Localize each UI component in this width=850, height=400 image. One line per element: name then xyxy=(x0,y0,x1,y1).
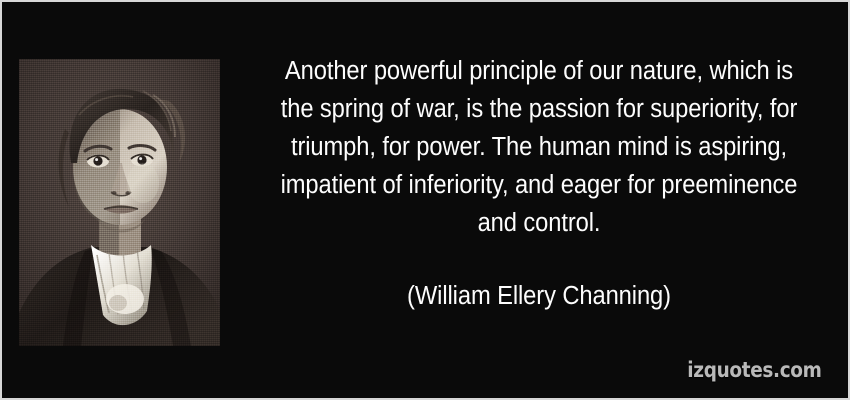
quote-text-column: Another powerful principle of our nature… xyxy=(234,52,844,313)
quote-attribution: (William Ellery Channing) xyxy=(255,242,822,313)
portrait-engraving-illustration xyxy=(19,59,220,346)
quote-body: Another powerful principle of our nature… xyxy=(255,52,822,242)
author-portrait-image xyxy=(19,59,220,346)
quote-card: Another powerful principle of our nature… xyxy=(0,0,850,400)
site-watermark: izquotes.com xyxy=(688,358,822,382)
